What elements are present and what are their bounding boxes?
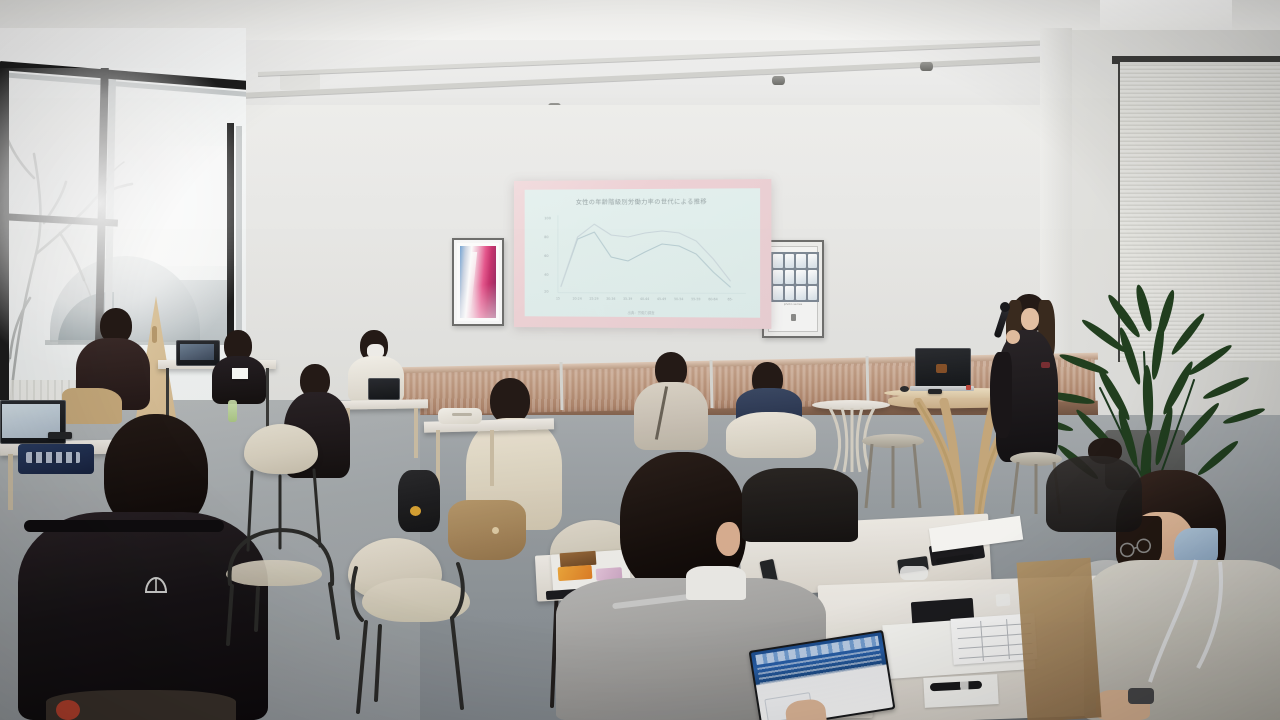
svg-text:40-44: 40-44 <box>640 297 649 301</box>
wristwatch <box>1128 688 1154 704</box>
poster-caption: photo series <box>764 302 822 306</box>
smartphone[interactable] <box>48 432 72 439</box>
svg-text:20: 20 <box>544 290 549 294</box>
svg-text:15: 15 <box>556 297 560 301</box>
attendee-bag <box>62 388 122 424</box>
svg-text:50-54: 50-54 <box>674 297 683 301</box>
table-leg <box>414 408 418 458</box>
backpack-charm-icon <box>410 506 421 516</box>
attendee-outer-layer <box>726 412 816 458</box>
svg-text:20-24: 20-24 <box>573 297 582 301</box>
red-object <box>56 700 80 720</box>
svg-text:80: 80 <box>544 235 549 239</box>
ceiling-vent <box>280 74 320 90</box>
attendee-torso <box>1046 456 1142 532</box>
attendee-backpack <box>448 500 526 560</box>
presenter-laptop-base <box>910 386 974 391</box>
backpack-button-icon <box>492 527 499 534</box>
stool-legs <box>860 442 928 512</box>
water-bottle <box>228 400 237 422</box>
svg-text:40: 40 <box>544 273 549 277</box>
table-leg <box>266 368 269 428</box>
framed-artwork-abstract <box>452 238 504 326</box>
slide-line-chart: 100 80 60 40 20 15 20-24 25-29 3 <box>542 211 750 306</box>
eyeglasses <box>900 566 928 580</box>
computer-mouse[interactable] <box>900 386 909 392</box>
table-leg <box>8 454 13 510</box>
presenter-watch <box>1041 362 1050 368</box>
eraser <box>996 594 1011 607</box>
lanyard <box>1124 556 1254 706</box>
laptop-screen-content <box>180 344 214 360</box>
microphone-head-icon <box>1000 302 1010 312</box>
svg-text:55-59: 55-59 <box>691 297 700 301</box>
attendee-torso <box>634 382 708 450</box>
svg-text:60-64: 60-64 <box>708 297 717 301</box>
seminar-room-photo: photo series 女性の年齢階級別労働力率の世代による推移 100 80… <box>0 0 1280 720</box>
presenter-phone[interactable] <box>928 389 942 394</box>
poster-logo-icon <box>791 314 796 321</box>
presenter-hand <box>1006 330 1020 344</box>
pouch-pattern <box>26 452 80 463</box>
table-leg <box>490 430 494 486</box>
floor-backpack <box>398 470 440 532</box>
jacket-shoulder-seam <box>24 520 224 532</box>
partition-handle-hole <box>152 326 157 343</box>
chart-svg: 100 80 60 40 20 15 20-24 25-29 3 <box>542 211 750 306</box>
slide-title: 女性の年齢階級別労働力率の世代による推移 <box>525 196 760 206</box>
presenter-arm <box>990 352 1012 438</box>
wood-table-right <box>1017 558 1102 720</box>
spotlight-icon <box>920 62 933 71</box>
chair-frame <box>340 560 480 720</box>
artwork-image <box>460 246 496 318</box>
jacket-brand-logo-icon <box>142 576 170 594</box>
presenter-face <box>1021 308 1039 330</box>
white-bag <box>438 408 482 424</box>
svg-text:60: 60 <box>544 254 549 258</box>
slide-footer-source: 出典：労働力調査 <box>525 309 760 315</box>
svg-text:65-: 65- <box>728 297 733 301</box>
orange-snack <box>558 565 593 581</box>
svg-text:100: 100 <box>544 216 551 220</box>
shirt-collar <box>686 566 746 600</box>
svg-text:30-34: 30-34 <box>606 297 615 301</box>
laptop-screen[interactable] <box>368 378 400 400</box>
chair-frame <box>240 450 330 560</box>
spotlight-icon <box>772 76 785 85</box>
ceiling-skylight <box>1100 0 1232 30</box>
attendee-ear <box>716 522 740 556</box>
laptop-logo-icon <box>936 364 947 373</box>
bag-strap <box>452 413 472 416</box>
attendee-torso <box>742 468 858 542</box>
svg-text:35-39: 35-39 <box>623 297 632 301</box>
name-badge <box>232 368 248 379</box>
svg-text:45-49: 45-49 <box>657 297 666 301</box>
attendee-torso <box>212 356 266 404</box>
svg-text:25-29: 25-29 <box>589 297 598 301</box>
poster-tile-grid <box>771 252 819 302</box>
projected-slide: 女性の年齢階級別労働力率の世代による推移 100 80 60 40 20 <box>525 188 760 318</box>
projection-screen: 女性の年齢階級別労働力率の世代による推移 100 80 60 40 20 <box>514 179 771 329</box>
usb-dongle-icon <box>966 385 971 390</box>
